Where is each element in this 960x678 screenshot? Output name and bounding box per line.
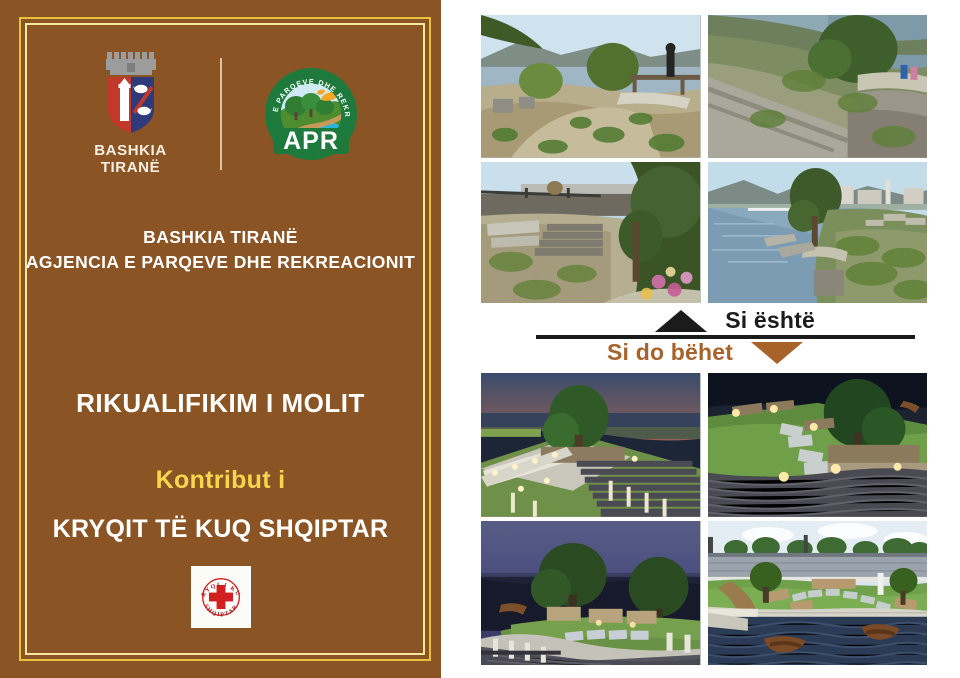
logo-divider — [220, 58, 222, 170]
page-title: RIKUALIFIKIM I MOLIT — [0, 388, 441, 419]
crest-name-line2: TIRANË — [94, 160, 167, 177]
contribution-label: Kontribut i — [0, 466, 441, 495]
albanian-red-cross-icon: KRYQI I KUQ SHQIPTAR — [191, 566, 251, 628]
left-info-panel: BASHKIA TIRANË — [0, 0, 441, 678]
bashkia-tirane-logo: BASHKIA TIRANË — [56, 51, 206, 177]
after-photo-3 — [481, 521, 701, 665]
contributor-name: KRYQIT TË KUQ SHQIPTAR — [0, 515, 441, 544]
before-photo-1 — [481, 15, 701, 158]
before-photo-3 — [481, 162, 701, 305]
after-photo-1 — [481, 373, 701, 517]
photo-comparison-panel: Si është Si do bëhet — [441, 0, 960, 678]
organization-block: BASHKIA TIRANË AGJENCIA E PARQEVE DHE RE… — [0, 225, 441, 276]
apr-seal-icon: AGJENCIA E PARQEVE DHE REKREACIONIT APR — [263, 66, 359, 162]
after-photo-grid — [481, 373, 927, 665]
bashkia-tirane-label: BASHKIA TIRANË — [94, 143, 167, 177]
before-label: Si është — [725, 307, 815, 334]
before-photo-grid — [481, 15, 927, 305]
svg-text:APR: APR — [283, 127, 339, 155]
before-photo-4 — [708, 162, 928, 305]
before-row: Si është — [481, 305, 927, 336]
after-row: Si do bëhet — [481, 337, 927, 368]
apr-logo: AGJENCIA E PARQEVE DHE REKREACIONIT APR — [236, 66, 386, 162]
before-after-divider: Si është Si do bëhet — [481, 303, 927, 369]
tirana-coat-of-arms-icon — [100, 51, 162, 135]
logo-row: BASHKIA TIRANË — [0, 44, 441, 184]
crest-name-line1: BASHKIA — [94, 143, 167, 160]
organization-line2: AGJENCIA E PARQEVE DHE REKREACIONIT — [0, 250, 441, 275]
triangle-up-icon — [655, 310, 707, 332]
after-photo-4 — [708, 521, 928, 665]
organization-line1: BASHKIA TIRANË — [0, 225, 441, 250]
after-label: Si do bëhet — [607, 339, 733, 366]
after-photo-2 — [708, 373, 928, 517]
before-photo-2 — [708, 15, 928, 158]
poster-root: BASHKIA TIRANË — [0, 0, 960, 678]
triangle-down-icon — [751, 342, 803, 364]
